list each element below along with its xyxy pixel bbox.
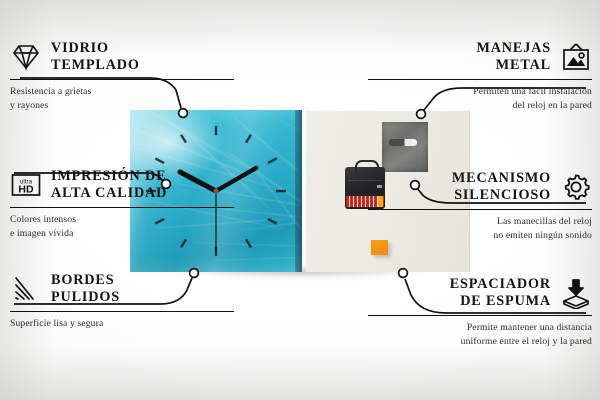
feature-title: MANEJAS METAL — [476, 40, 551, 74]
feature-description: Superficie lisa y segura — [10, 317, 234, 331]
feature-header: BORDES PULIDOS — [10, 272, 234, 306]
feature-vidrio-templado[interactable]: VIDRIO TEMPLADO Resistencia a grietas y … — [10, 40, 234, 112]
glass-edge — [295, 110, 302, 272]
feature-rule — [10, 79, 234, 81]
gear-icon — [560, 171, 592, 203]
feature-title: ESPACIADOR DE ESPUMA — [450, 276, 551, 310]
desc-line-1: Colores intensos — [10, 213, 234, 227]
feature-description: Colores intensos e imagen vívida — [10, 213, 234, 240]
feature-header: ultra HD IMPRESIÓN DE ALTA CALIDAD — [10, 168, 234, 202]
feature-rule — [368, 315, 592, 317]
feature-title: BORDES PULIDOS — [51, 272, 120, 306]
diamond-icon — [10, 41, 42, 73]
feature-description: Las manecillas del reloj no emiten ningú… — [368, 215, 592, 242]
title-line-1: ESPACIADOR — [450, 276, 551, 293]
title-line-2: PULIDOS — [51, 289, 120, 306]
desc-line-1: Las manecillas del reloj — [368, 215, 592, 229]
feature-rule — [368, 209, 592, 211]
title-line-1: MANEJAS — [476, 40, 551, 57]
metal-hanger-plate — [382, 122, 428, 172]
title-line-2: ALTA CALIDAD — [51, 185, 167, 202]
feature-description: Permiten una fácil instalación del reloj… — [368, 85, 592, 112]
desc-line-2: e imagen vívida — [10, 227, 234, 241]
feature-rule — [10, 311, 234, 313]
picture-frame-hanger-icon — [560, 41, 592, 73]
feature-title: IMPRESIÓN DE ALTA CALIDAD — [51, 168, 167, 202]
title-line-1: BORDES — [51, 272, 120, 289]
desc-line-1: Permiten una fácil instalación — [368, 85, 592, 99]
title-line-2: METAL — [476, 57, 551, 74]
feature-description: Resistencia a grietas y rayones — [10, 85, 234, 112]
title-line-1: MECANISMO — [452, 170, 551, 187]
desc-line-1: Resistencia a grietas — [10, 85, 234, 99]
feature-title: MECANISMO SILENCIOSO — [452, 170, 551, 204]
feature-header: ESPACIADOR DE ESPUMA — [368, 276, 592, 310]
ultra-hd-icon: ultra HD — [10, 169, 42, 201]
feature-impresion-alta-calidad[interactable]: ultra HD IMPRESIÓN DE ALTA CALIDAD Color… — [10, 168, 234, 240]
desc-line-2: uniforme entre el reloj y la pared — [368, 335, 592, 349]
title-line-2: SILENCIOSO — [452, 187, 551, 204]
title-line-2: DE ESPUMA — [450, 293, 551, 310]
feature-header: MANEJAS METAL — [368, 40, 592, 74]
title-line-1: IMPRESIÓN DE — [51, 168, 167, 185]
ultra-hd-icon-bottom-text: HD — [18, 183, 34, 195]
hanger-slot — [389, 139, 417, 146]
desc-line-2: del reloj en la pared — [368, 99, 592, 113]
feature-bordes-pulidos[interactable]: BORDES PULIDOS Superficie lisa y segura — [10, 272, 234, 331]
press-down-icon — [560, 277, 592, 309]
feature-rule — [368, 79, 592, 81]
desc-line-1: Permite mantener una distancia — [368, 321, 592, 335]
infographic-canvas: VIDRIO TEMPLADO Resistencia a grietas y … — [0, 0, 600, 400]
feature-manejas-metal[interactable]: MANEJAS METAL Permiten una fácil instala… — [368, 40, 592, 112]
polished-edges-icon — [10, 273, 42, 305]
feature-header: MECANISMO SILENCIOSO — [368, 170, 592, 204]
title-line-1: VIDRIO — [51, 40, 140, 57]
feature-title: VIDRIO TEMPLADO — [51, 40, 140, 74]
desc-line-2: no emiten ningún sonido — [368, 229, 592, 243]
desc-line-1: Superficie lisa y segura — [10, 317, 234, 331]
feature-mecanismo-silencioso[interactable]: MECANISMO SILENCIOSO Las manecillas del … — [368, 170, 592, 242]
feature-rule — [10, 207, 234, 209]
feature-description: Permite mantener una distancia uniforme … — [368, 321, 592, 348]
title-line-2: TEMPLADO — [51, 57, 140, 74]
feature-espaciador-de-espuma[interactable]: ESPACIADOR DE ESPUMA Permite mantener un… — [368, 276, 592, 348]
desc-line-2: y rayones — [10, 99, 234, 113]
feature-header: VIDRIO TEMPLADO — [10, 40, 234, 74]
